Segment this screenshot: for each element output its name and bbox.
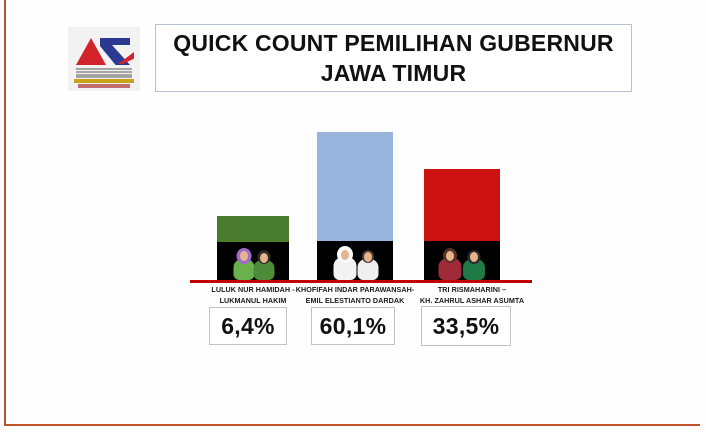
presentation-slide: QUICK COUNT PEMILIHAN GUBERNUR JAWA TIMU… <box>0 0 706 432</box>
figure-face <box>364 252 372 262</box>
candidate-figure-2a <box>333 244 357 280</box>
figure-face <box>470 252 478 262</box>
figure-face <box>446 251 454 261</box>
bar-label-3-line-2: KH. ZAHRUL ASHAR ASUMTA <box>404 296 540 307</box>
bar-fill-2 <box>317 132 393 241</box>
bar-fill-1 <box>217 216 289 242</box>
candidate-figure-3a <box>438 246 462 280</box>
candidate-photo-3 <box>424 241 500 280</box>
candidate-figure-1a <box>233 246 255 280</box>
candidate-figure-2b <box>357 247 379 280</box>
result-value-2: 60,1% <box>320 313 387 340</box>
result-value-box-3: 33,5% <box>421 306 511 346</box>
result-value-3: 33,5% <box>433 313 500 340</box>
candidate-figure-3b <box>462 247 485 280</box>
figure-face <box>240 251 248 261</box>
bar-label-2-line-1: KHOFIFAH INDAR PARAWANSAH- <box>290 285 420 296</box>
quick-count-bar-chart: LULUK NUR HAMIDAH - LUKMANUL HAKIM KHOFI… <box>0 0 706 432</box>
candidate-photo-1 <box>217 242 289 280</box>
bar-label-2: KHOFIFAH INDAR PARAWANSAH- EMIL ELESTIAN… <box>290 285 420 306</box>
figure-face <box>341 250 349 260</box>
bar-group-1 <box>217 216 289 280</box>
candidate-figure-1b <box>253 247 275 280</box>
bar-group-3 <box>424 169 500 280</box>
bar-fill-3 <box>424 169 500 241</box>
candidate-photo-2 <box>317 241 393 280</box>
figure-face <box>260 253 268 263</box>
result-value-box-1: 6,4% <box>209 307 287 345</box>
chart-baseline <box>190 280 532 283</box>
bar-label-2-line-2: EMIL ELESTIANTO DARDAK <box>290 296 420 307</box>
bar-label-3: TRI RISMAHARINI – KH. ZAHRUL ASHAR ASUMT… <box>404 285 540 306</box>
bar-group-2 <box>317 132 393 280</box>
result-value-1: 6,4% <box>221 313 275 340</box>
bar-label-3-line-1: TRI RISMAHARINI – <box>404 285 540 296</box>
result-value-box-2: 60,1% <box>311 307 395 345</box>
